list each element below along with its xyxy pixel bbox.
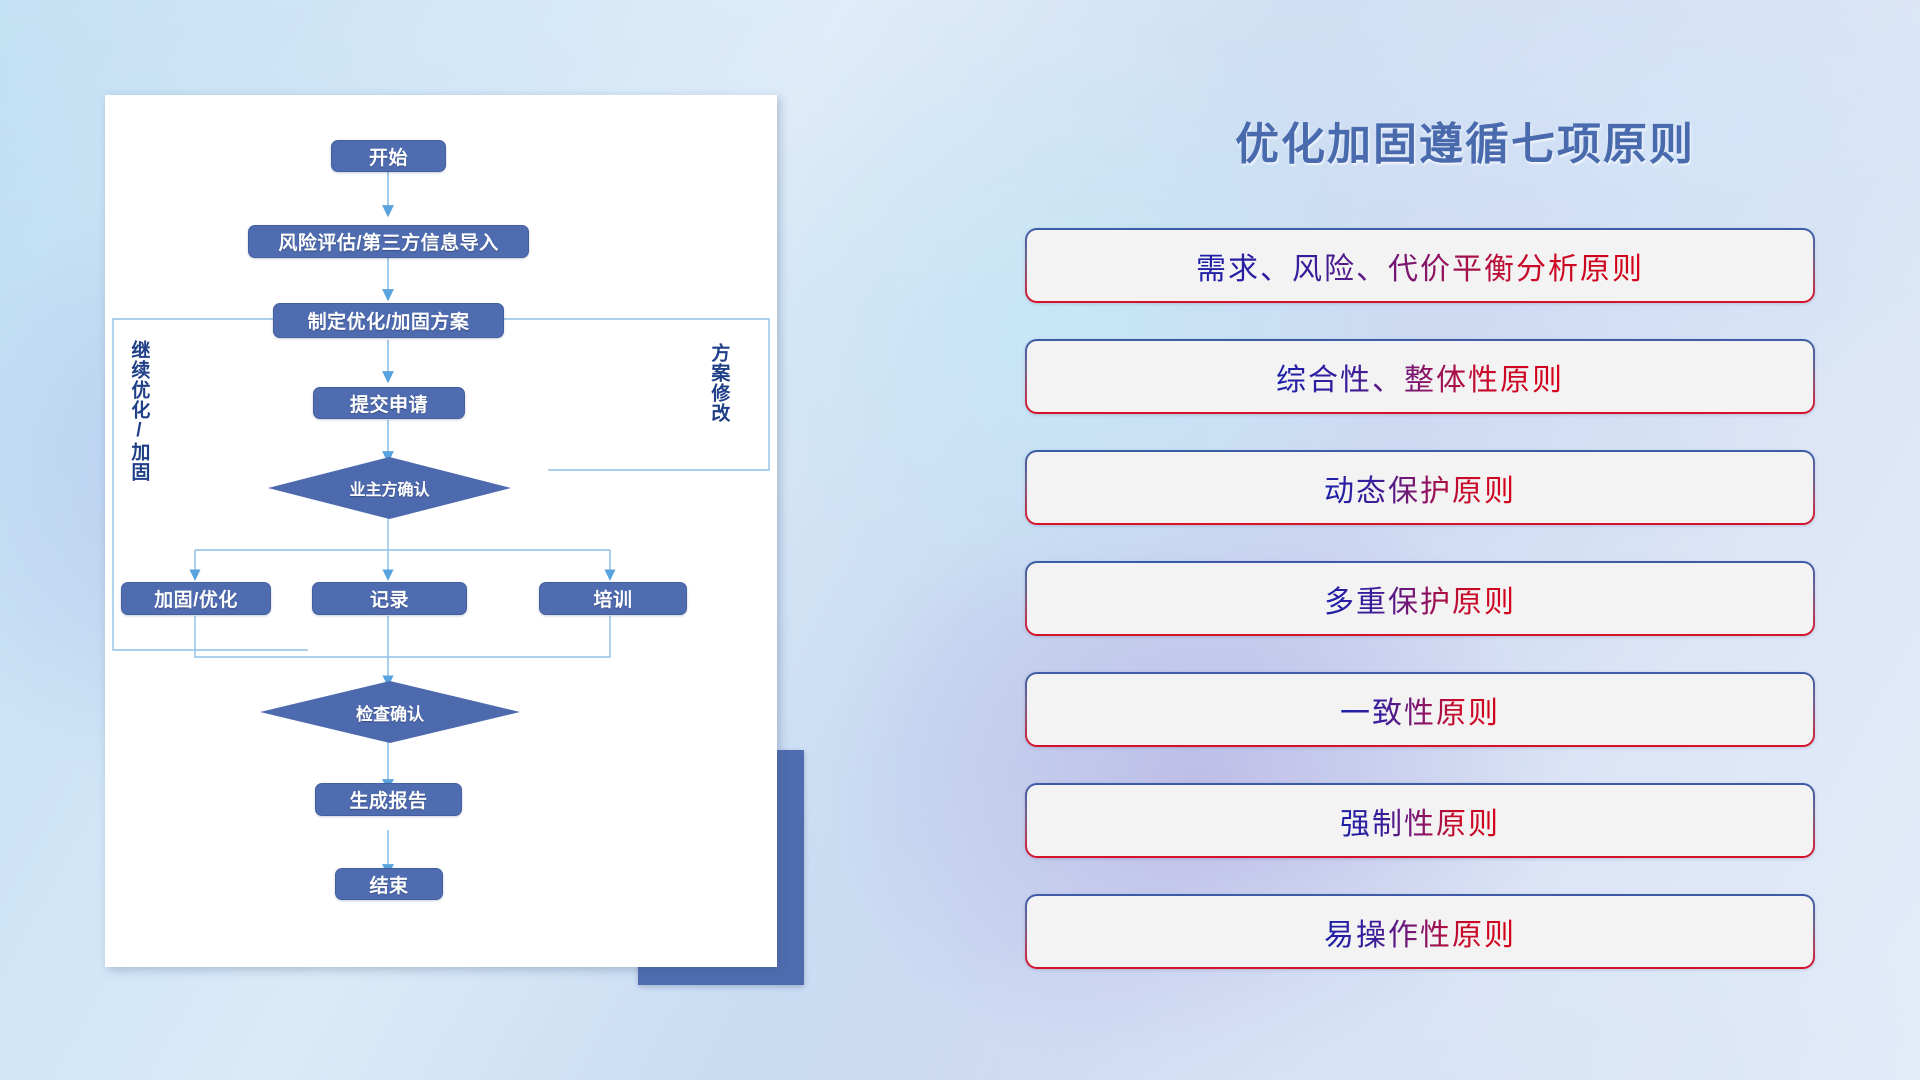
principle-card-inner: 多重保护原则: [1027, 563, 1813, 634]
flow-node-label: 业主方确认: [349, 476, 429, 500]
flow-node-label: 检查确认: [356, 700, 424, 725]
flow-node-label: 生成报告: [349, 786, 427, 813]
principle-card[interactable]: 一致性原则: [1025, 672, 1815, 747]
principle-card[interactable]: 动态保护原则: [1025, 450, 1815, 525]
flow-node-submit-application[interactable]: 提交申请: [313, 387, 465, 419]
principle-label: 动态保护原则: [1324, 466, 1516, 510]
flow-node-record[interactable]: 记录: [312, 582, 467, 615]
principle-card-inner: 综合性、整体性原则: [1027, 341, 1813, 412]
principle-card[interactable]: 强制性原则: [1025, 783, 1815, 858]
principle-card-inner: 强制性原则: [1027, 785, 1813, 856]
principle-label: 多重保护原则: [1324, 577, 1516, 621]
principle-card-inner: 动态保护原则: [1027, 452, 1813, 523]
flow-node-label: 记录: [370, 585, 409, 612]
principle-label: 易操作性原则: [1324, 910, 1516, 954]
principle-card-inner: 需求、风险、代价平衡分析原则: [1027, 230, 1813, 301]
principle-label: 强制性原则: [1340, 799, 1500, 843]
flow-edge-label-continue-optimize: 继续优化/加固: [129, 340, 148, 482]
flow-node-label: 结束: [369, 871, 408, 898]
principle-card[interactable]: 易操作性原则: [1025, 894, 1815, 969]
flow-node-training[interactable]: 培训: [539, 582, 687, 615]
panel-title: 优化加固遵循七项原则: [1010, 108, 1920, 172]
principle-card[interactable]: 多重保护原则: [1025, 561, 1815, 636]
flow-node-label: 加固/优化: [154, 585, 238, 612]
principle-label: 一致性原则: [1340, 688, 1500, 732]
flow-node-plan[interactable]: 制定优化/加固方案: [273, 303, 504, 338]
flow-node-reinforce-optimize[interactable]: 加固/优化: [121, 582, 271, 615]
flow-node-label: 制定优化/加固方案: [308, 307, 470, 334]
flow-node-generate-report[interactable]: 生成报告: [315, 783, 462, 816]
principles-panel: 优化加固遵循七项原则 需求、风险、代价平衡分析原则 综合性、整体性原则 动态保护…: [1010, 0, 1920, 1080]
flow-node-end[interactable]: 结束: [335, 868, 443, 900]
principles-list: 需求、风险、代价平衡分析原则 综合性、整体性原则 动态保护原则 多重保护原则 一…: [1025, 228, 1815, 1005]
flow-node-label: 提交申请: [350, 390, 428, 417]
principle-label: 综合性、整体性原则: [1276, 355, 1564, 399]
flow-node-label: 开始: [369, 143, 408, 170]
flow-edge-label-plan-revision: 方案修改: [709, 343, 728, 423]
flow-node-risk-assessment[interactable]: 风险评估/第三方信息导入: [248, 225, 529, 258]
principle-card-inner: 一致性原则: [1027, 674, 1813, 745]
principle-card-inner: 易操作性原则: [1027, 896, 1813, 967]
flow-node-label: 培训: [593, 585, 632, 612]
flow-node-label: 风险评估/第三方信息导入: [278, 228, 498, 255]
flowchart-card: 开始 风险评估/第三方信息导入 制定优化/加固方案 提交申请 业主方确认 加固/…: [105, 95, 777, 967]
principle-label: 需求、风险、代价平衡分析原则: [1196, 244, 1644, 288]
flow-node-start[interactable]: 开始: [331, 140, 446, 172]
principle-card[interactable]: 需求、风险、代价平衡分析原则: [1025, 228, 1815, 303]
principle-card[interactable]: 综合性、整体性原则: [1025, 339, 1815, 414]
